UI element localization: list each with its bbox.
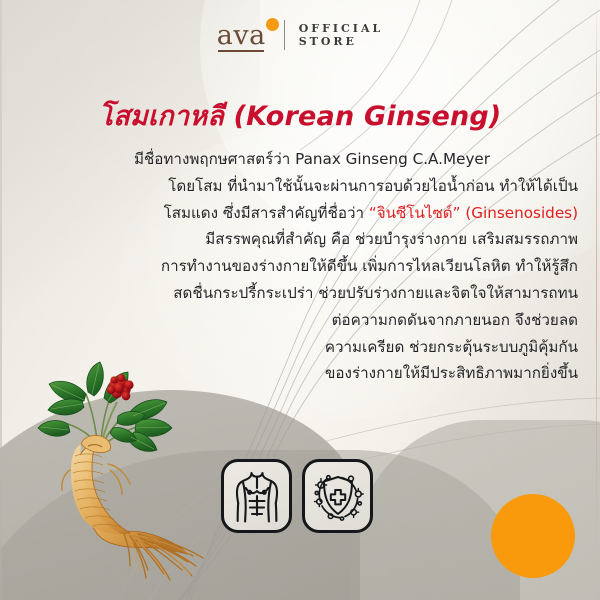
benefit-icon-row <box>221 459 373 533</box>
bg-edge-left <box>0 0 2 600</box>
orange-dot-icon <box>266 18 279 31</box>
brand-header: ava OFFICIAL STORE <box>0 12 600 58</box>
body-line-1: โดยโสม ที่นำมาใช้นั้นจะผ่านการอบด้วยไอน้… <box>46 173 578 200</box>
body-line-2-highlight: “จินซีโนไซด์” (Ginsenosides) <box>369 204 578 222</box>
body-line-6: ต่อความกดดันจากภายนอก จึงช่วยลด <box>46 307 578 334</box>
ava-logo: ava <box>217 22 270 49</box>
logo-divider <box>284 20 285 50</box>
official-line-2: STORE <box>299 35 384 48</box>
body-line-2: โสมแดง ซึ่งมีสารสำคัญที่ชื่อว่า “จินซีโน… <box>46 200 578 227</box>
body-line-2-pre: โสมแดง ซึ่งมีสารสำคัญที่ชื่อว่า <box>164 204 369 222</box>
page-title: โสมเกาหลี (Korean Ginseng) <box>0 94 600 137</box>
body-line-4: การทำงานของร่างกายให้ดีขึ้น เพิ่มการไหลเ… <box>46 253 578 280</box>
shield-immunity-icon <box>302 459 373 533</box>
ava-logo-text: ava <box>217 20 266 51</box>
ava-logo-underline <box>218 50 264 52</box>
poster-canvas: ava OFFICIAL STORE โสมเกาหลี (Korean Gin… <box>0 0 600 600</box>
bg-edge-right-line <box>596 0 597 600</box>
body-line-3: มีสรรพคุณที่สำคัญ คือ ช่วยบำรุงร่างกาย เ… <box>46 226 578 253</box>
ginseng-root-plant-illustration <box>18 352 208 600</box>
body-line-5: สดชื่นกระปรี้กระเปร่า ช่วยปรับร่างกายและ… <box>46 280 578 307</box>
orange-circle-accent <box>491 494 575 578</box>
shield-glyph <box>312 470 364 522</box>
body-line-0: มีชื่อทางพฤกษศาสตร์ว่า Panax Ginseng C.A… <box>46 146 578 173</box>
male-torso-body-icon <box>221 459 292 533</box>
official-line-1: OFFICIAL <box>299 22 384 35</box>
body-copy: มีชื่อทางพฤกษศาสตร์ว่า Panax Ginseng C.A… <box>46 146 578 387</box>
official-store-label: OFFICIAL STORE <box>299 22 384 49</box>
torso-glyph <box>233 469 281 523</box>
